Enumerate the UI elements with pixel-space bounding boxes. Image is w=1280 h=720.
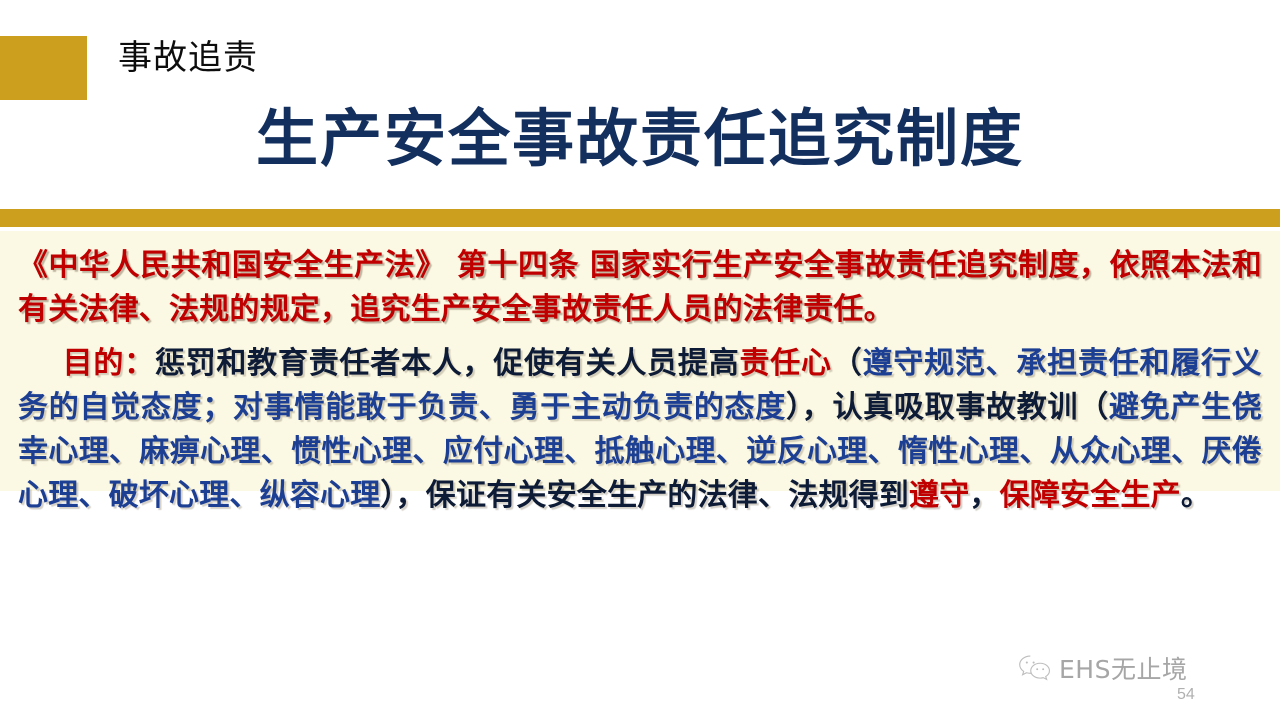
watermark-label: EHS无止境 bbox=[1059, 650, 1187, 686]
page-number: 54 bbox=[1177, 686, 1195, 704]
purpose-segment-5: ），认真吸取事故教训（ bbox=[786, 390, 1109, 425]
page-title: 生产安全事故责任追究制度 bbox=[0, 100, 1280, 178]
purpose-segment-1: 惩罚和教育责任者本人，促使有关人员提高 bbox=[155, 346, 740, 381]
purpose-label: 目的： bbox=[62, 346, 155, 381]
slide-kicker: 事故追责 bbox=[118, 40, 258, 77]
slide-body: 《中华人民共和国安全生产法》 第十四条 国家实行生产安全事故责任追究制度，依照本… bbox=[0, 244, 1280, 518]
purpose-highlight-comply: 遵守 bbox=[909, 478, 969, 513]
purpose-segment-7: ），保证有关安全生产的法律、法规得到 bbox=[380, 478, 909, 513]
purpose-paragraph: 目的：惩罚和教育责任者本人，促使有关人员提高责任心（遵守规范、承担责任和履行义务… bbox=[10, 342, 1270, 518]
slide-root: 事故追责 生产安全事故责任追究制度 《中华人民共和国安全生产法》 第十四条 国家… bbox=[0, 0, 1280, 720]
purpose-segment-11: 。 bbox=[1181, 478, 1211, 513]
gold-divider-rule bbox=[0, 209, 1280, 227]
gold-accent-block bbox=[0, 36, 87, 100]
wechat-icon bbox=[1018, 653, 1052, 683]
law-quote-text: 《中华人民共和国安全生产法》 第十四条 国家实行生产安全事故责任追究制度，依照本… bbox=[18, 248, 1262, 327]
watermark: EHS无止境 bbox=[1018, 650, 1187, 686]
purpose-segment-9: ， bbox=[969, 478, 999, 513]
purpose-segment-3: （ bbox=[832, 346, 863, 381]
purpose-highlight-responsibility: 责任心 bbox=[739, 346, 831, 381]
purpose-highlight-safeguard: 保障安全生产 bbox=[1000, 478, 1181, 513]
law-quote-paragraph: 《中华人民共和国安全生产法》 第十四条 国家实行生产安全事故责任追究制度，依照本… bbox=[10, 244, 1270, 332]
